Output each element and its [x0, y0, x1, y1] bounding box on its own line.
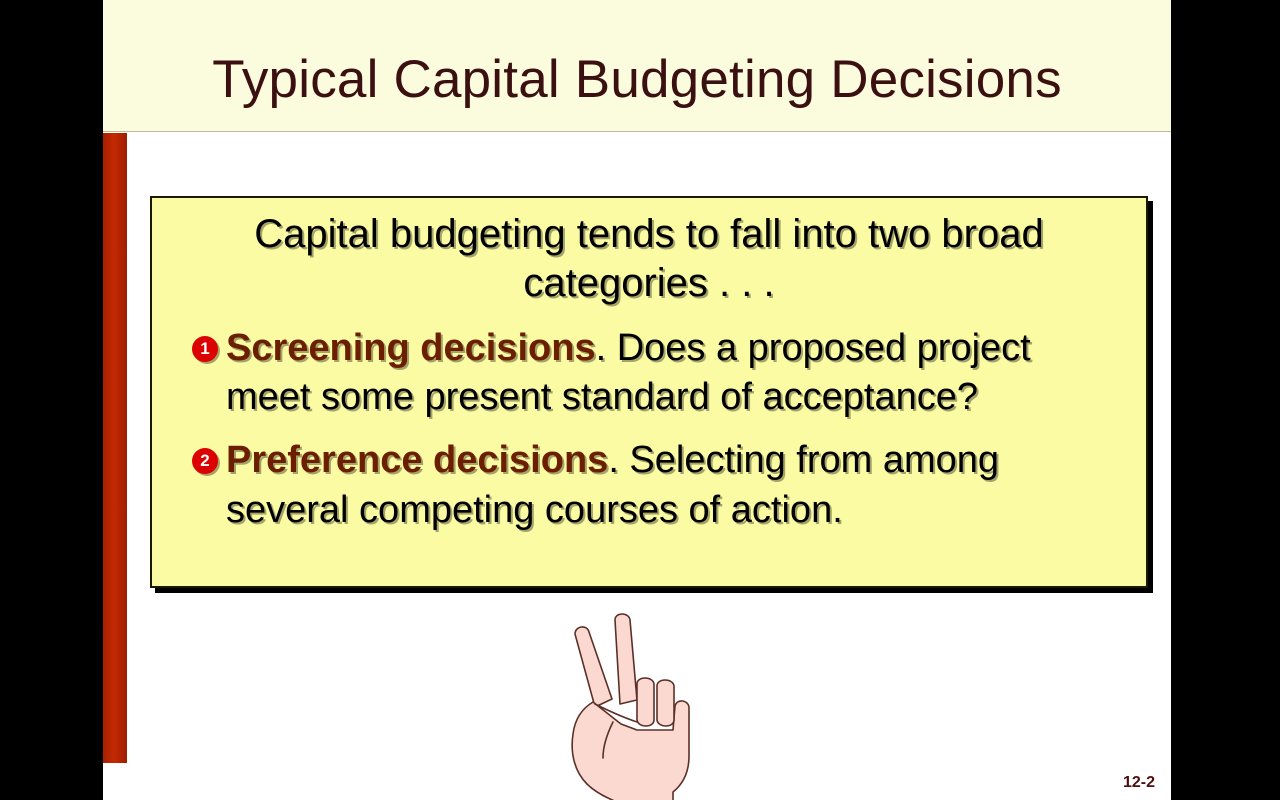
list-item: 2 Preference decisions. Selecting from a…: [192, 436, 1120, 535]
bullet-lead-label: Preference decisions: [226, 439, 608, 481]
slide-backdrop: Typical Capital Budgeting Decisions Capi…: [0, 0, 1280, 800]
bullet-list: 1 Screening decisions. Does a proposed p…: [192, 324, 1120, 536]
bullet-marker-2-icon: 2: [192, 448, 218, 474]
intro-text: Capital budgeting tends to fall into two…: [170, 210, 1128, 308]
hand-two-fingers-icon: [565, 612, 705, 800]
bullet-text: Preference decisions. Selecting from amo…: [226, 436, 1120, 535]
content-box: Capital budgeting tends to fall into two…: [150, 196, 1148, 588]
slide-canvas: Typical Capital Budgeting Decisions Capi…: [103, 0, 1171, 800]
left-accent-bar: [103, 133, 127, 763]
bullet-lead-label: Screening decisions: [226, 327, 596, 369]
page-number: 12-2: [1123, 774, 1155, 792]
bullet-marker-1-icon: 1: [192, 336, 218, 362]
bullet-text: Screening decisions. Does a proposed pro…: [226, 324, 1120, 423]
page-title: Typical Capital Budgeting Decisions: [103, 0, 1171, 132]
list-item: 1 Screening decisions. Does a proposed p…: [192, 324, 1120, 423]
title-band: Typical Capital Budgeting Decisions: [103, 0, 1171, 132]
